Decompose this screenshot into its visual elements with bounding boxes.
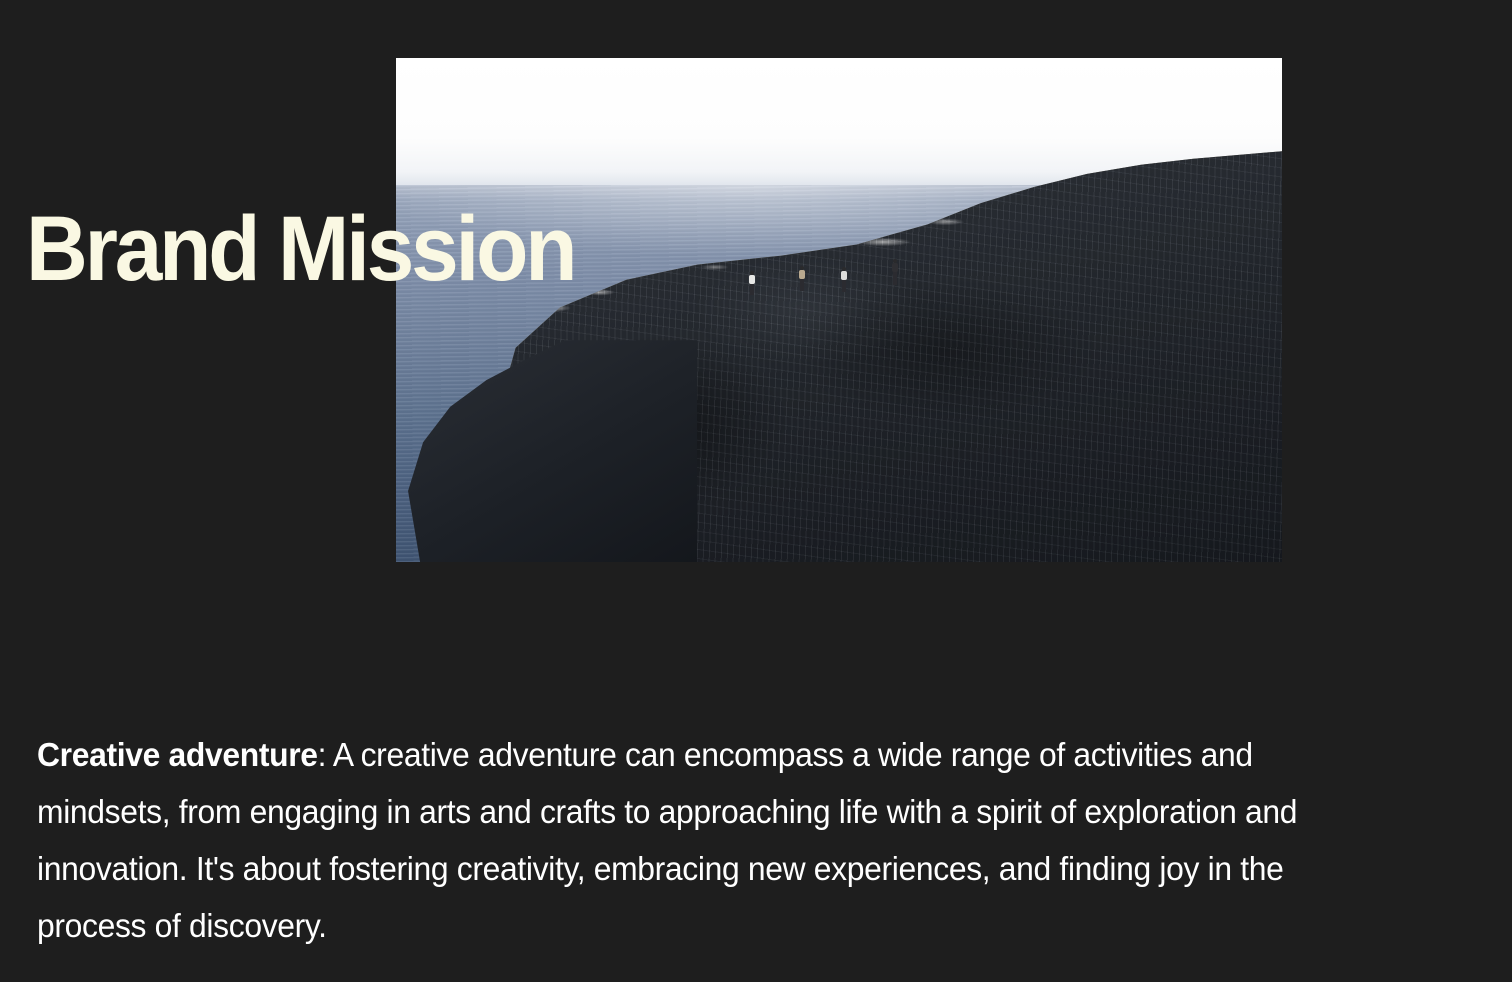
page-title: Brand Mission [26,203,574,295]
person-figure [893,263,897,285]
person-figure [842,271,846,292]
person-torso [799,270,805,279]
hero-image [396,58,1282,562]
body-paragraph: Creative adventure: A creative adventure… [37,726,1388,954]
paragraph-lead-in: Creative adventure [37,736,318,773]
person-figure [750,275,754,295]
person-figure [800,270,804,291]
person-torso [749,275,755,284]
paragraph-separator: : [318,736,327,773]
person-torso [892,263,898,272]
cliff-photograph [396,58,1282,562]
person-torso [841,271,847,280]
slide-canvas: Brand Mission Creative adventure: A crea… [0,0,1512,982]
